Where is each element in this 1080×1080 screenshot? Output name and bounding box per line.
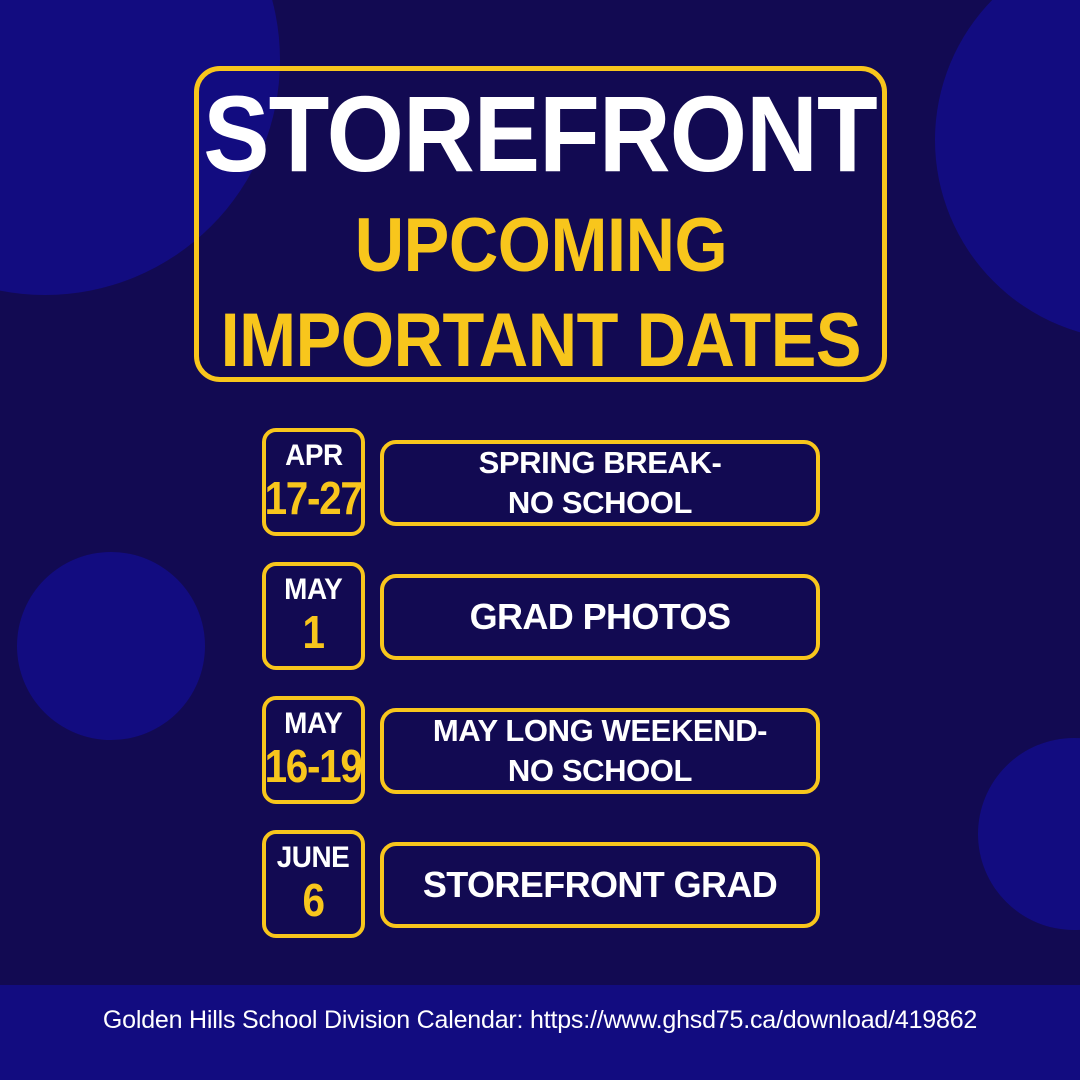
date-row: MAY 16-19 MAY LONG WEEKEND- NO SCHOOL xyxy=(0,692,1080,826)
event-label: SPRING BREAK- NO SCHOOL xyxy=(465,443,736,522)
event-label-line-2: NO SCHOOL xyxy=(508,753,692,788)
date-chip: APR 17-27 xyxy=(262,428,365,536)
event-label-line-1: SPRING BREAK- xyxy=(479,445,722,480)
date-row: JUNE 6 STOREFRONT GRAD xyxy=(0,826,1080,960)
title-subtitle-1: UPCOMING xyxy=(354,203,727,288)
important-dates-list: APR 17-27 SPRING BREAK- NO SCHOOL MAY 1 … xyxy=(0,424,1080,960)
title-subtitle-2: IMPORTANT DATES xyxy=(220,298,860,383)
event-card: STOREFRONT GRAD xyxy=(380,842,820,928)
date-chip-month: JUNE xyxy=(277,843,350,873)
date-chip: MAY 1 xyxy=(262,562,365,670)
event-label-line-2: NO SCHOOL xyxy=(508,485,692,520)
poster-canvas: STOREFRONT UPCOMING IMPORTANT DATES APR … xyxy=(0,0,1080,1080)
event-card: GRAD PHOTOS xyxy=(380,574,820,660)
event-label: MAY LONG WEEKEND- NO SCHOOL xyxy=(419,711,781,790)
date-chip-day: 16-19 xyxy=(265,742,362,790)
title-panel: STOREFRONT UPCOMING IMPORTANT DATES xyxy=(194,66,887,382)
date-row: APR 17-27 SPRING BREAK- NO SCHOOL xyxy=(0,424,1080,558)
date-chip: MAY 16-19 xyxy=(262,696,365,804)
event-label-line-1: MAY LONG WEEKEND- xyxy=(433,713,767,748)
date-chip-day: 17-27 xyxy=(265,474,362,522)
page-title: STOREFRONT xyxy=(204,79,877,189)
footer-calendar-link[interactable]: Golden Hills School Division Calendar: h… xyxy=(0,1006,1080,1035)
date-chip: JUNE 6 xyxy=(262,830,365,938)
decorative-circle-top-right xyxy=(935,0,1080,340)
event-card: SPRING BREAK- NO SCHOOL xyxy=(380,440,820,526)
event-label: STOREFRONT GRAD xyxy=(409,862,791,908)
event-label: GRAD PHOTOS xyxy=(456,594,745,640)
date-chip-day: 1 xyxy=(303,608,324,656)
footer-band: Golden Hills School Division Calendar: h… xyxy=(0,985,1080,1080)
date-row: MAY 1 GRAD PHOTOS xyxy=(0,558,1080,692)
date-chip-month: APR xyxy=(285,441,343,471)
date-chip-month: MAY xyxy=(284,709,342,739)
event-card: MAY LONG WEEKEND- NO SCHOOL xyxy=(380,708,820,794)
date-chip-month: MAY xyxy=(284,575,342,605)
date-chip-day: 6 xyxy=(303,876,324,924)
